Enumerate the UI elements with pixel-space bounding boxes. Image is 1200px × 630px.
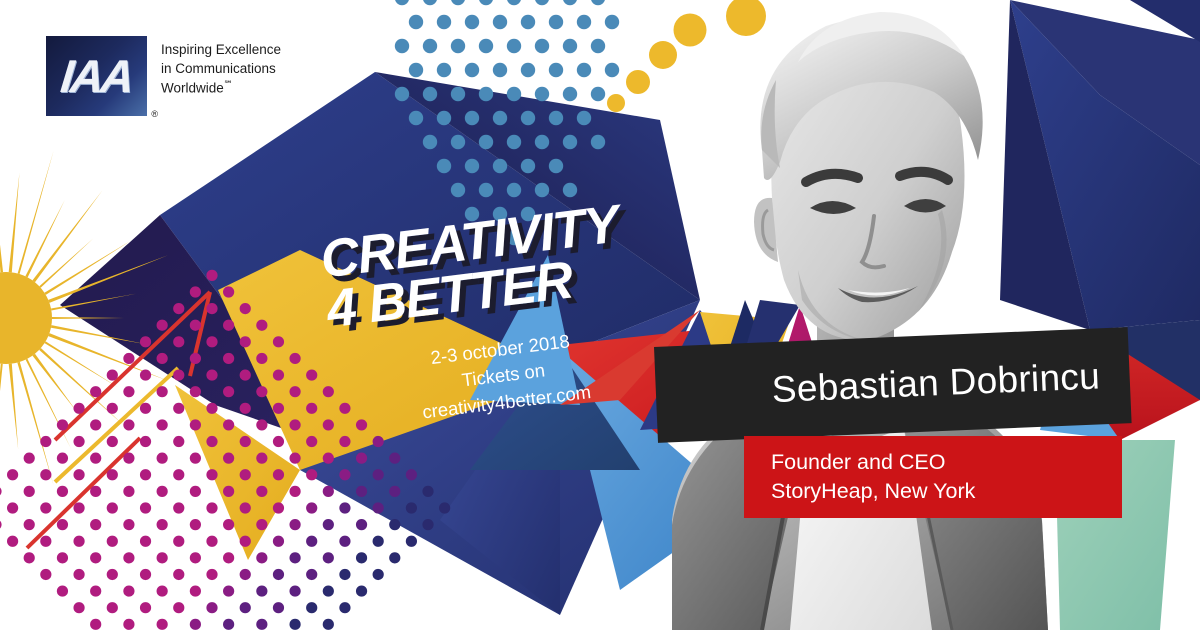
magenta-dot bbox=[123, 386, 134, 397]
magenta-dot bbox=[323, 552, 334, 563]
magenta-dot bbox=[373, 569, 384, 580]
magenta-dot bbox=[157, 353, 168, 364]
magenta-dot bbox=[323, 486, 334, 497]
magenta-dot bbox=[173, 502, 184, 513]
magenta-dot bbox=[206, 602, 217, 613]
magenta-dot bbox=[256, 353, 267, 364]
magenta-dot bbox=[7, 502, 18, 513]
magenta-dot bbox=[389, 486, 400, 497]
magenta-dot bbox=[323, 585, 334, 596]
magenta-dot bbox=[157, 585, 168, 596]
magenta-dot bbox=[306, 469, 317, 480]
speaker-role: Founder and CEO StoryHeap, New York bbox=[771, 448, 1122, 505]
magenta-dot bbox=[157, 453, 168, 464]
magenta-dot bbox=[240, 369, 251, 380]
magenta-dot bbox=[140, 369, 151, 380]
magenta-dot bbox=[190, 353, 201, 364]
magenta-dot bbox=[73, 536, 84, 547]
magenta-dot bbox=[306, 502, 317, 513]
magenta-dot bbox=[206, 536, 217, 547]
magenta-dot bbox=[339, 502, 350, 513]
magenta-dot bbox=[107, 536, 118, 547]
magenta-dot bbox=[273, 536, 284, 547]
magenta-dot bbox=[240, 536, 251, 547]
magenta-dot bbox=[140, 569, 151, 580]
magenta-dot bbox=[107, 502, 118, 513]
magenta-dot bbox=[273, 369, 284, 380]
magenta-dot bbox=[273, 469, 284, 480]
magenta-dot bbox=[256, 486, 267, 497]
magenta-dot bbox=[406, 536, 417, 547]
magenta-dot bbox=[373, 536, 384, 547]
magenta-dot bbox=[323, 519, 334, 530]
magenta-dot bbox=[356, 486, 367, 497]
magenta-dot bbox=[273, 569, 284, 580]
magenta-dot bbox=[306, 369, 317, 380]
magenta-dot bbox=[157, 386, 168, 397]
magenta-dot bbox=[0, 519, 2, 530]
magenta-dot bbox=[123, 486, 134, 497]
magenta-dot bbox=[223, 353, 234, 364]
magenta-dot bbox=[289, 619, 300, 630]
magenta-dot bbox=[240, 502, 251, 513]
magenta-dot bbox=[107, 369, 118, 380]
magenta-dot bbox=[339, 469, 350, 480]
magenta-dot bbox=[173, 569, 184, 580]
magenta-dot bbox=[323, 453, 334, 464]
iaa-logo-mark: IAA ® bbox=[46, 36, 147, 116]
magenta-dot bbox=[339, 536, 350, 547]
magenta-dot bbox=[223, 286, 234, 297]
magenta-dot bbox=[140, 502, 151, 513]
magenta-dot bbox=[206, 403, 217, 414]
magenta-dot bbox=[107, 403, 118, 414]
magenta-dot bbox=[157, 486, 168, 497]
magenta-dot bbox=[406, 469, 417, 480]
magenta-dot bbox=[256, 519, 267, 530]
magenta-dot bbox=[273, 403, 284, 414]
iaa-logo-letters: IAA bbox=[59, 53, 134, 99]
magenta-dot bbox=[240, 602, 251, 613]
magenta-dot bbox=[107, 569, 118, 580]
magenta-dot bbox=[273, 336, 284, 347]
magenta-dot bbox=[223, 386, 234, 397]
magenta-dot bbox=[107, 602, 118, 613]
magenta-dot bbox=[240, 403, 251, 414]
magenta-dot bbox=[140, 469, 151, 480]
magenta-dot bbox=[123, 519, 134, 530]
magenta-dot bbox=[173, 303, 184, 314]
magenta-dot bbox=[157, 320, 168, 331]
magenta-dot bbox=[40, 536, 51, 547]
magenta-dot bbox=[173, 336, 184, 347]
magenta-dot bbox=[240, 436, 251, 447]
event-poster: CREATIVITY 4 BETTER 2-3 october 2018 Tic… bbox=[0, 0, 1200, 630]
magenta-dot bbox=[57, 519, 68, 530]
magenta-dot bbox=[389, 453, 400, 464]
magenta-dot bbox=[40, 469, 51, 480]
magenta-dot bbox=[190, 419, 201, 430]
magenta-dot bbox=[90, 552, 101, 563]
magenta-dot bbox=[190, 585, 201, 596]
magenta-dot bbox=[90, 453, 101, 464]
iaa-logo: IAA ® Inspiring Excellence in Communicat… bbox=[46, 36, 281, 116]
magenta-dot bbox=[256, 320, 267, 331]
magenta-dot bbox=[73, 569, 84, 580]
magenta-dot bbox=[24, 486, 35, 497]
magenta-dot bbox=[173, 369, 184, 380]
magenta-dot bbox=[439, 502, 450, 513]
magenta-dot bbox=[90, 486, 101, 497]
magenta-dot bbox=[240, 569, 251, 580]
magenta-dot bbox=[273, 502, 284, 513]
magenta-dot bbox=[339, 602, 350, 613]
magenta-dot bbox=[389, 552, 400, 563]
magenta-dot bbox=[190, 519, 201, 530]
magenta-dot bbox=[190, 453, 201, 464]
magenta-dot bbox=[206, 369, 217, 380]
magenta-dot bbox=[190, 286, 201, 297]
magenta-dot bbox=[223, 419, 234, 430]
magenta-dot bbox=[422, 486, 433, 497]
magenta-dot bbox=[289, 585, 300, 596]
magenta-dot bbox=[24, 552, 35, 563]
magenta-dot bbox=[289, 353, 300, 364]
magenta-dot bbox=[223, 519, 234, 530]
magenta-dot bbox=[273, 602, 284, 613]
magenta-dot bbox=[289, 386, 300, 397]
magenta-dot bbox=[206, 569, 217, 580]
magenta-dot bbox=[323, 619, 334, 630]
magenta-dot bbox=[123, 585, 134, 596]
magenta-dot bbox=[123, 353, 134, 364]
magenta-dot bbox=[323, 419, 334, 430]
magenta-dot bbox=[273, 436, 284, 447]
magenta-dot bbox=[356, 585, 367, 596]
magenta-dot bbox=[339, 436, 350, 447]
magenta-dot bbox=[123, 619, 134, 630]
magenta-dot bbox=[73, 502, 84, 513]
magenta-dot bbox=[107, 469, 118, 480]
speaker-name-block: Sebastian Dobrincu bbox=[654, 327, 1132, 443]
magenta-dot bbox=[206, 436, 217, 447]
magenta-dot bbox=[190, 619, 201, 630]
magenta-dot bbox=[223, 585, 234, 596]
magenta-dot bbox=[323, 386, 334, 397]
magenta-dot bbox=[240, 336, 251, 347]
magenta-dot bbox=[90, 419, 101, 430]
magenta-dot bbox=[73, 602, 84, 613]
registered-mark-icon: ® bbox=[151, 109, 158, 119]
magenta-dot bbox=[289, 486, 300, 497]
magenta-dot bbox=[173, 403, 184, 414]
magenta-dot bbox=[190, 486, 201, 497]
magenta-dot bbox=[223, 453, 234, 464]
iaa-logo-tagline: Inspiring Excellence in Communications W… bbox=[161, 40, 281, 98]
magenta-dot bbox=[24, 453, 35, 464]
magenta-dot bbox=[240, 303, 251, 314]
magenta-dot bbox=[57, 419, 68, 430]
magenta-dot bbox=[123, 552, 134, 563]
magenta-dot bbox=[157, 619, 168, 630]
magenta-dot bbox=[40, 502, 51, 513]
magenta-dot bbox=[223, 486, 234, 497]
speaker-portrait bbox=[612, 0, 1082, 630]
magenta-dot bbox=[373, 436, 384, 447]
magenta-dot bbox=[356, 552, 367, 563]
magenta-dot bbox=[223, 619, 234, 630]
magenta-dot bbox=[90, 585, 101, 596]
magenta-dot bbox=[356, 519, 367, 530]
magenta-dot bbox=[190, 320, 201, 331]
magenta-dot bbox=[240, 469, 251, 480]
magenta-dot bbox=[90, 386, 101, 397]
magenta-dot bbox=[157, 419, 168, 430]
magenta-dot bbox=[289, 419, 300, 430]
magenta-dot bbox=[206, 502, 217, 513]
magenta-dot bbox=[0, 486, 2, 497]
magenta-dot bbox=[57, 486, 68, 497]
speaker-role-block: Founder and CEO StoryHeap, New York bbox=[744, 436, 1122, 518]
magenta-dot bbox=[289, 552, 300, 563]
iaa-tagline-text: Inspiring Excellence in Communications W… bbox=[161, 42, 281, 96]
magenta-dot bbox=[173, 436, 184, 447]
magenta-dot bbox=[40, 569, 51, 580]
magenta-dot bbox=[256, 552, 267, 563]
magenta-dot bbox=[422, 519, 433, 530]
magenta-dot bbox=[256, 619, 267, 630]
magenta-dot bbox=[289, 519, 300, 530]
magenta-dot bbox=[190, 552, 201, 563]
magenta-dot bbox=[24, 519, 35, 530]
magenta-dot bbox=[373, 502, 384, 513]
magenta-dot bbox=[190, 386, 201, 397]
magenta-dot bbox=[140, 403, 151, 414]
magenta-dot bbox=[373, 469, 384, 480]
magenta-dot bbox=[57, 552, 68, 563]
magenta-dot bbox=[57, 453, 68, 464]
magenta-dot bbox=[223, 552, 234, 563]
magenta-dot bbox=[256, 453, 267, 464]
magenta-dot bbox=[173, 469, 184, 480]
magenta-dot bbox=[140, 536, 151, 547]
magenta-dot bbox=[306, 436, 317, 447]
speaker-name: Sebastian Dobrincu bbox=[771, 355, 1101, 411]
magenta-dot bbox=[40, 436, 51, 447]
magenta-dot bbox=[256, 386, 267, 397]
magenta-dot bbox=[7, 469, 18, 480]
magenta-dot bbox=[73, 469, 84, 480]
magenta-dot bbox=[157, 519, 168, 530]
magenta-dot bbox=[256, 419, 267, 430]
magenta-dot bbox=[157, 552, 168, 563]
magenta-dot bbox=[140, 602, 151, 613]
magenta-dot bbox=[206, 270, 217, 281]
magenta-dot bbox=[123, 453, 134, 464]
magenta-dot bbox=[406, 502, 417, 513]
magenta-dot bbox=[306, 602, 317, 613]
magenta-dot bbox=[306, 536, 317, 547]
magenta-dot bbox=[206, 469, 217, 480]
magenta-dot bbox=[140, 436, 151, 447]
magenta-dot bbox=[289, 453, 300, 464]
magenta-dot bbox=[389, 519, 400, 530]
magenta-dot bbox=[173, 536, 184, 547]
magenta-dot bbox=[7, 536, 18, 547]
magenta-dot bbox=[107, 436, 118, 447]
magenta-dot bbox=[140, 336, 151, 347]
magenta-dot bbox=[356, 453, 367, 464]
magenta-dot bbox=[123, 419, 134, 430]
magenta-dot bbox=[173, 602, 184, 613]
magenta-dot bbox=[57, 585, 68, 596]
magenta-dot bbox=[306, 569, 317, 580]
service-mark-icon: ℠ bbox=[224, 79, 233, 89]
magenta-dot bbox=[90, 619, 101, 630]
magenta-dot bbox=[206, 336, 217, 347]
magenta-dot bbox=[73, 436, 84, 447]
magenta-dot bbox=[90, 519, 101, 530]
magenta-dot bbox=[206, 303, 217, 314]
magenta-dot bbox=[73, 403, 84, 414]
magenta-dot bbox=[306, 403, 317, 414]
magenta-dot bbox=[223, 320, 234, 331]
magenta-dot bbox=[256, 585, 267, 596]
magenta-dot bbox=[339, 569, 350, 580]
